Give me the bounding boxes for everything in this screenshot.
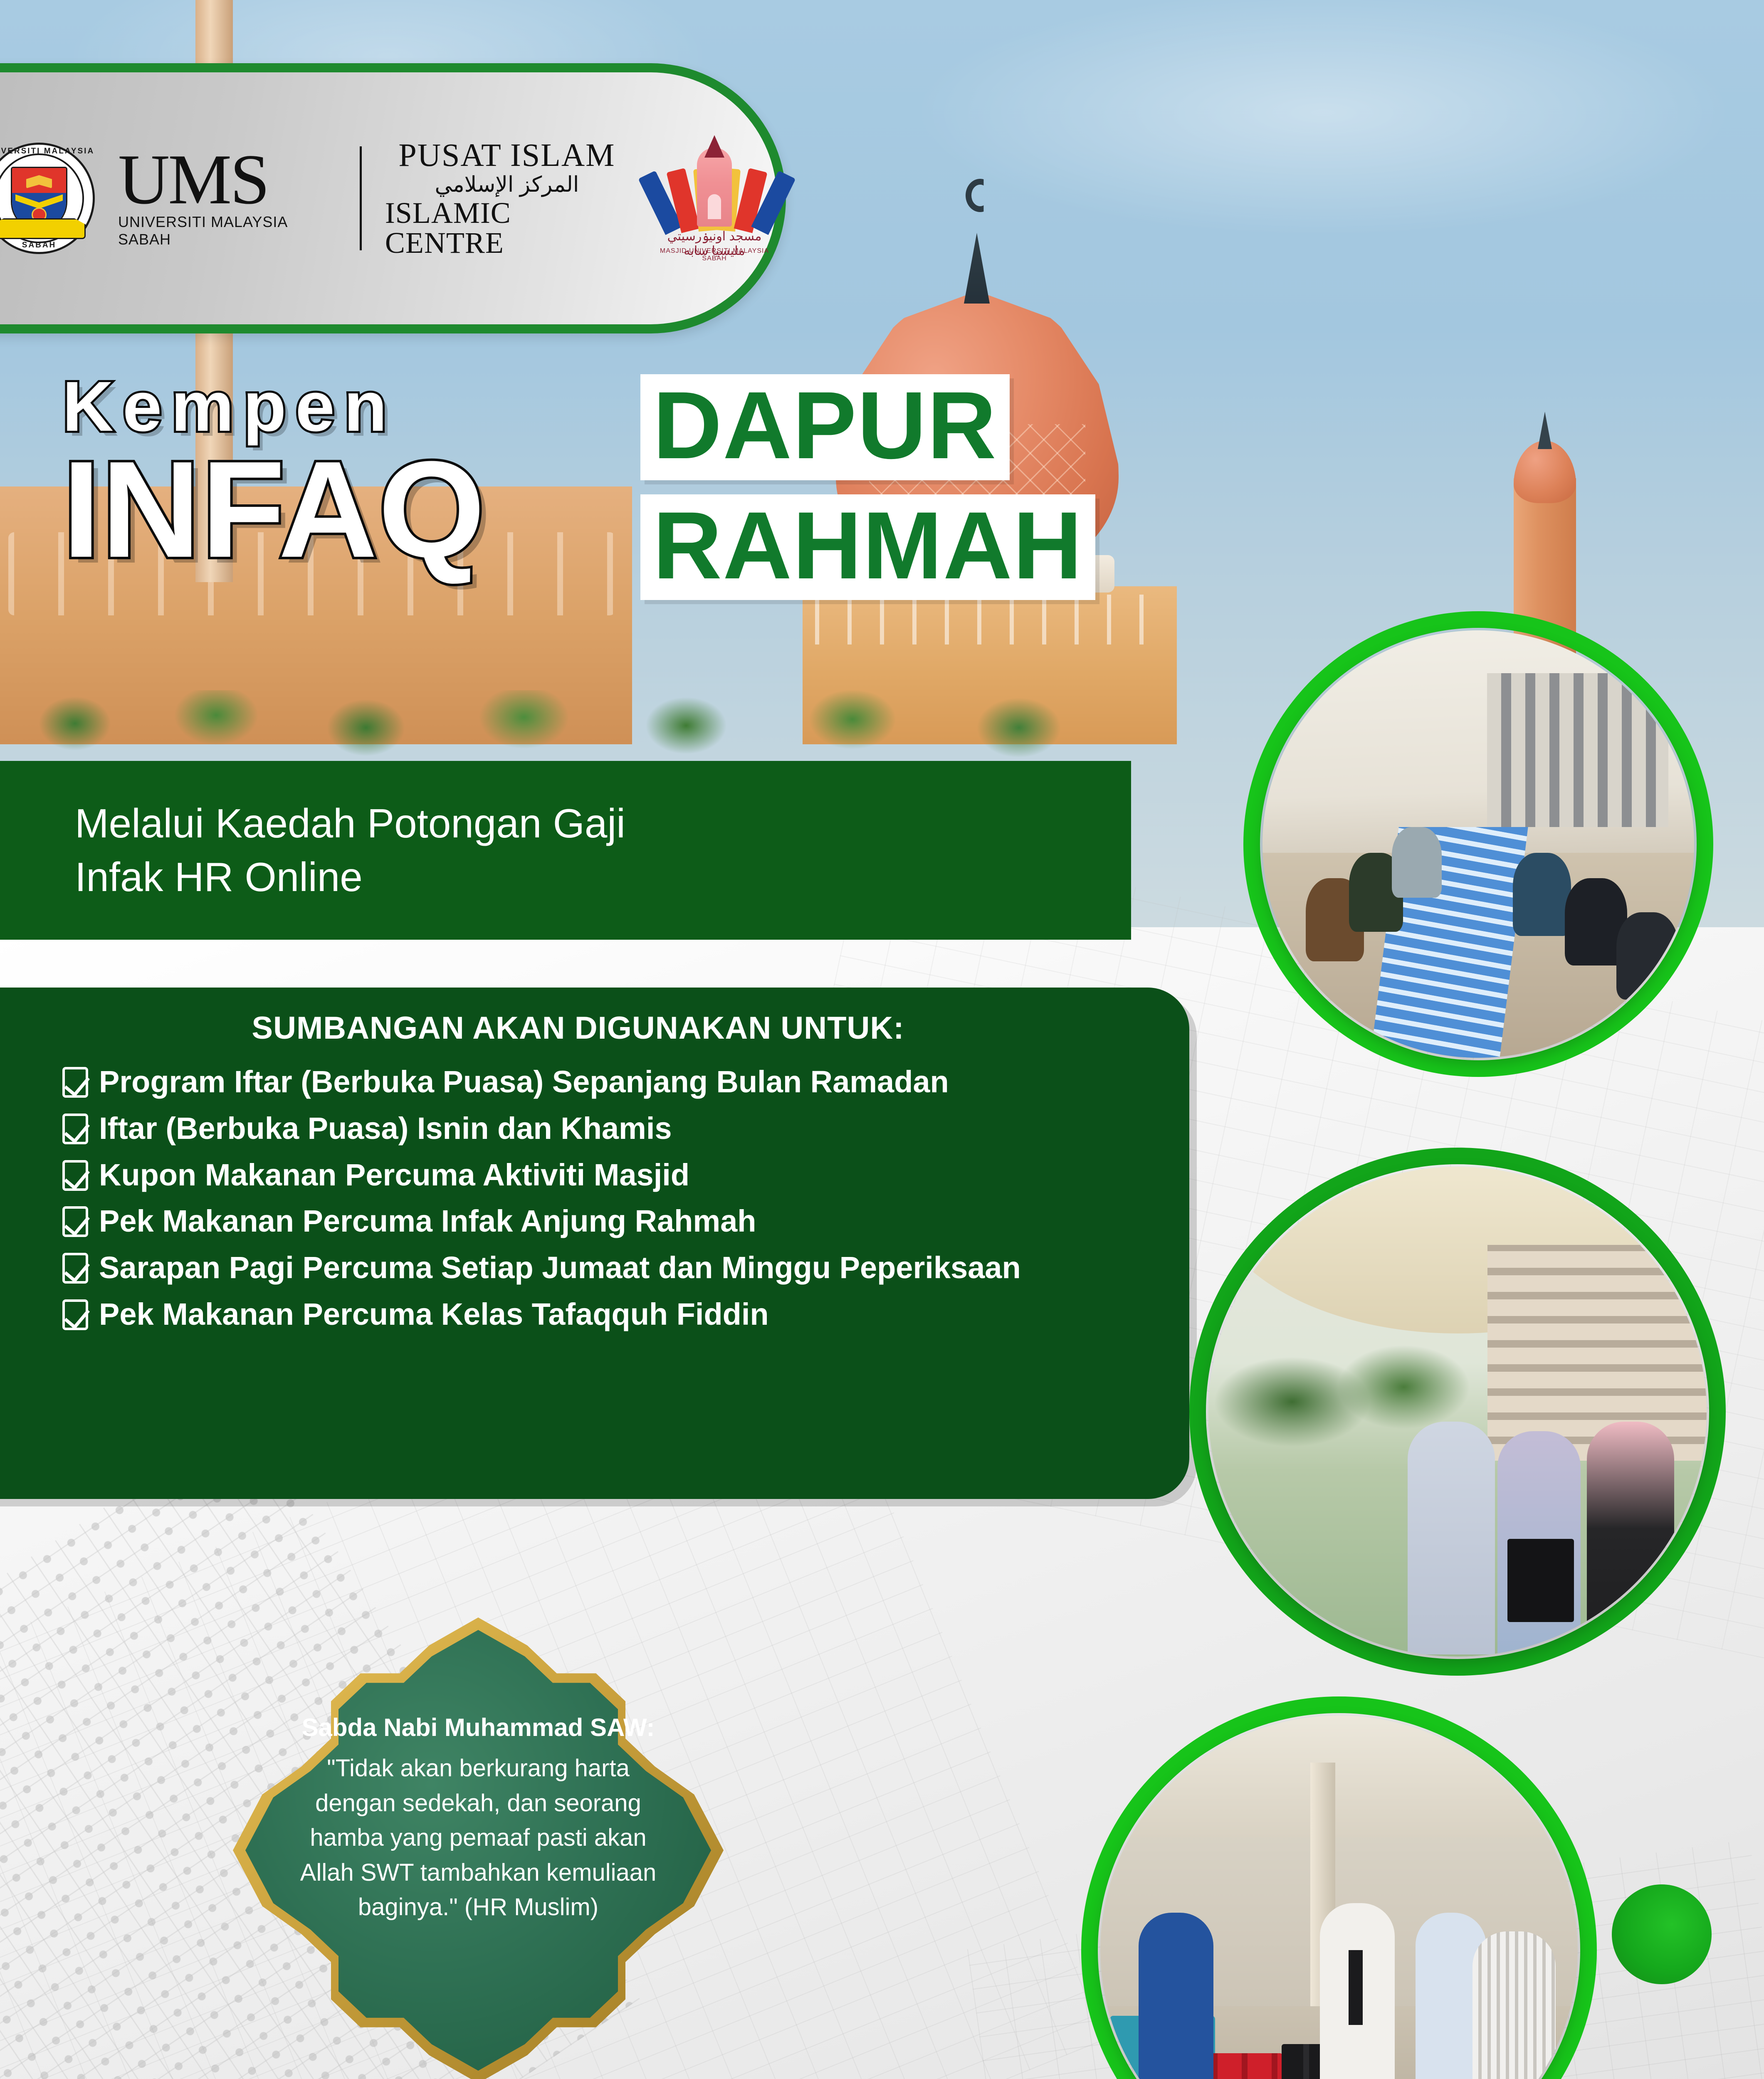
- ums-wordmark: UMS UNIVERSITI MALAYSIA SABAH: [118, 148, 336, 248]
- photo-food-pack-distribution: [1100, 1716, 1578, 2079]
- masjid-logo-english: MASJID UNIVERSITI MALAYSIA SABAH: [652, 247, 777, 262]
- crest-top-text: UNIVERSITI MALAYSIA: [0, 147, 95, 156]
- subtitle-line1: Melalui Kaedah Potongan Gaji: [75, 802, 1131, 845]
- ums-acronym: UMS: [118, 148, 268, 211]
- subtitle-line2: Infak HR Online: [75, 856, 1131, 899]
- photo-students-with-bag: [1208, 1167, 1707, 1657]
- title-highlight-line2: RAHMAH: [640, 494, 1095, 600]
- list-item: Kupon Makanan Percuma Aktiviti Masjid: [62, 1156, 1144, 1194]
- list-item: Program Iftar (Berbuka Puasa) Sepanjang …: [62, 1063, 1144, 1101]
- ums-crest-icon: UNIVERSITI MALAYSIA SABAH: [0, 143, 95, 254]
- usage-item-label: Program Iftar (Berbuka Puasa) Sepanjang …: [99, 1063, 949, 1101]
- list-item: Iftar (Berbuka Puasa) Isnin dan Khamis: [62, 1109, 1144, 1148]
- photo-iftar-hall: [1262, 630, 1694, 1058]
- usage-panel-heading: SUMBANGAN AKAN DIGUNAKAN UNTUK:: [62, 1010, 1144, 1046]
- logo-divider: [360, 146, 362, 250]
- mosque-minaret-spire: [1538, 412, 1552, 449]
- title-highlight-group: DAPUR RAHMAH: [640, 374, 1095, 600]
- usage-item-label: Pek Makanan Percuma Kelas Tafaqquh Fiddi…: [99, 1295, 769, 1333]
- decorative-green-dot: [1612, 1884, 1712, 1984]
- subtitle-band: Melalui Kaedah Potongan Gaji Infak HR On…: [0, 761, 1131, 940]
- islamic-centre-arabic: المركز الإسلامي: [435, 174, 579, 195]
- islamic-centre-malay: PUSAT ISLAM: [398, 139, 615, 171]
- title-main: INFAQ: [62, 441, 486, 578]
- list-item: Pek Makanan Percuma Infak Anjung Rahmah: [62, 1202, 1144, 1240]
- title-highlight-line1: DAPUR: [640, 374, 1010, 480]
- hadith-badge: Sabda Nabi Muhammad SAW: "Tidak akan ber…: [233, 1617, 724, 2079]
- usage-item-label: Sarapan Pagi Percuma Setiap Jumaat dan M…: [99, 1249, 1021, 1287]
- checkbox-checked-icon: [62, 1253, 88, 1284]
- checkbox-checked-icon: [62, 1206, 88, 1237]
- masjid-ums-logo-icon: مسجد اونيۏرسيتي مليسيا سابه MASJID UNIVE…: [652, 136, 777, 261]
- list-item: Sarapan Pagi Percuma Setiap Jumaat dan M…: [62, 1249, 1144, 1287]
- islamic-centre-english: ISLAMIC CENTRE: [385, 198, 629, 258]
- checkbox-checked-icon: [62, 1299, 88, 1330]
- islamic-centre-wordmark: PUSAT ISLAM المركز الإسلامي ISLAMIC CENT…: [385, 139, 629, 258]
- checkbox-checked-icon: [62, 1067, 88, 1098]
- hadith-quote: "Tidak akan berkurang harta dengan sedek…: [295, 1751, 661, 1925]
- usage-panel: SUMBANGAN AKAN DIGUNAKAN UNTUK: Program …: [0, 988, 1189, 1499]
- checkbox-checked-icon: [62, 1160, 88, 1191]
- mosque-spire: [964, 233, 990, 304]
- ums-fullname: UNIVERSITI MALAYSIA SABAH: [118, 213, 336, 248]
- mosque-body-arches: [815, 595, 1164, 644]
- poster-canvas: UNIVERSITI MALAYSIA SABAH UMS UNIVERSITI…: [0, 0, 1764, 2079]
- crest-bottom-text: SABAH: [0, 241, 95, 250]
- usage-item-label: Pek Makanan Percuma Infak Anjung Rahmah: [99, 1202, 756, 1240]
- badge-text-group: Sabda Nabi Muhammad SAW: "Tidak akan ber…: [295, 1713, 661, 1925]
- mosque-minaret-dome: [1514, 441, 1576, 503]
- crescent-icon: [966, 179, 995, 212]
- usage-item-label: Iftar (Berbuka Puasa) Isnin dan Khamis: [99, 1109, 672, 1148]
- hadith-heading: Sabda Nabi Muhammad SAW:: [295, 1713, 661, 1742]
- list-item: Pek Makanan Percuma Kelas Tafaqquh Fiddi…: [62, 1295, 1144, 1333]
- usage-item-label: Kupon Makanan Percuma Aktiviti Masjid: [99, 1156, 689, 1194]
- checkbox-checked-icon: [62, 1114, 88, 1144]
- usage-list: Program Iftar (Berbuka Puasa) Sepanjang …: [62, 1063, 1144, 1333]
- header-logo-bar: UNIVERSITI MALAYSIA SABAH UMS UNIVERSITI…: [0, 63, 786, 333]
